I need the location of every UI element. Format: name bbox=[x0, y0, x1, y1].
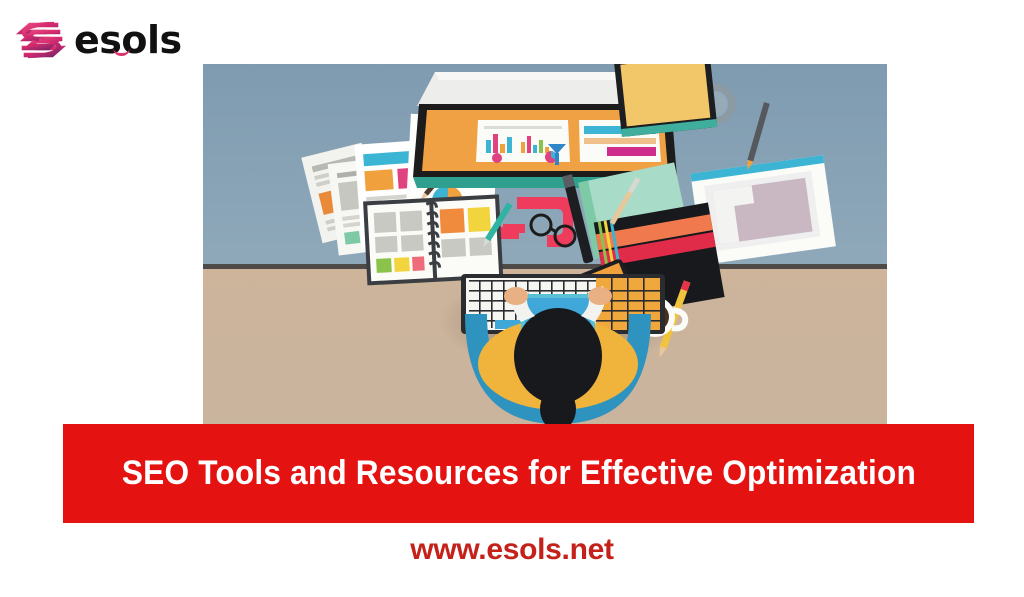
desk-workspace-illustration-icon bbox=[203, 64, 887, 431]
brand-wordmark-text: esols bbox=[74, 18, 182, 62]
brand-logo[interactable]: esols bbox=[14, 12, 182, 68]
hero-illustration bbox=[203, 64, 887, 431]
site-url[interactable]: www.esols.net bbox=[0, 533, 1024, 567]
title-banner: SEO Tools and Resources for Effective Op… bbox=[63, 424, 974, 523]
page-title: SEO Tools and Resources for Effective Op… bbox=[121, 454, 915, 493]
brand-wordmark: esols bbox=[74, 21, 182, 59]
esols-hexagon-s-logo-icon bbox=[14, 12, 68, 68]
